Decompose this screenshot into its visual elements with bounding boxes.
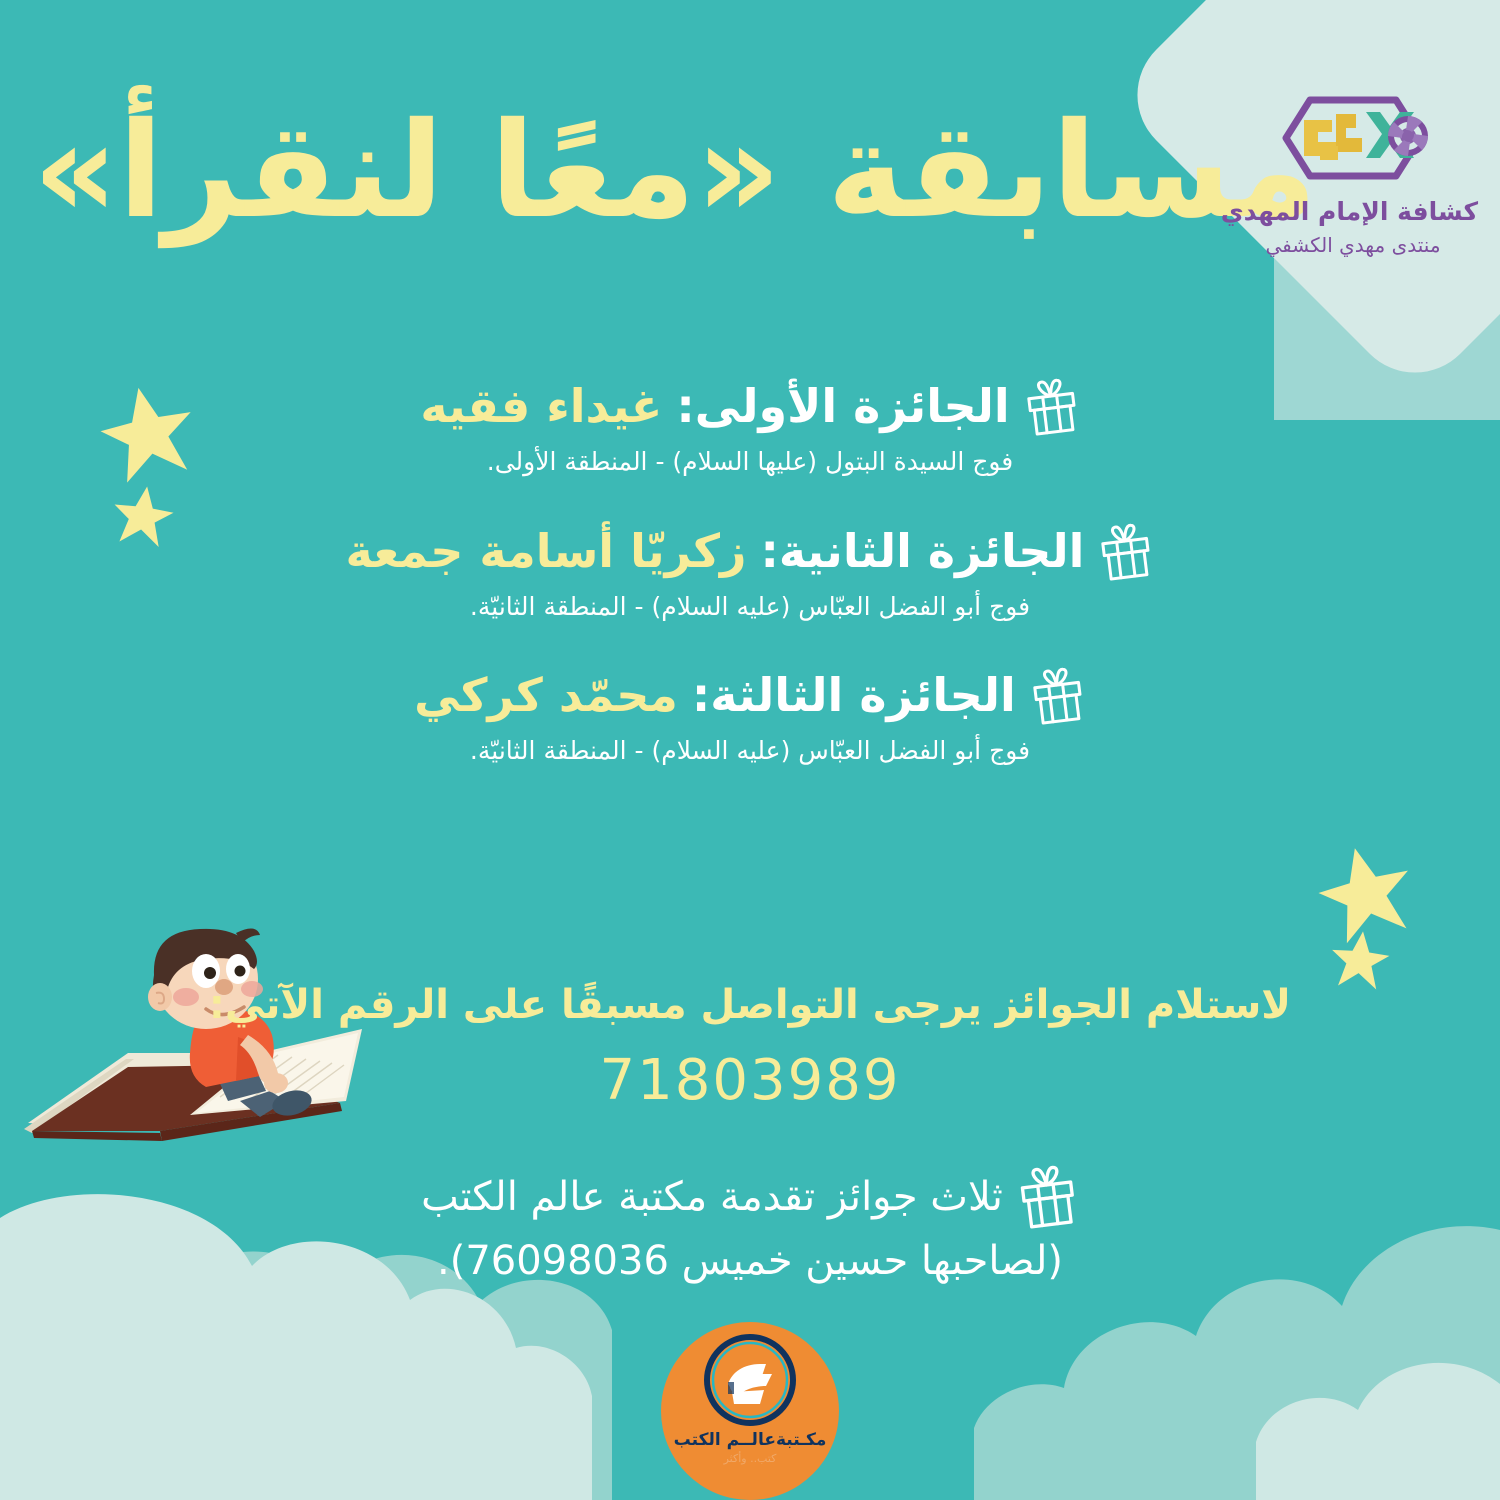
- prize-item-third: الجائزة الثالثة: محمّد كركي فوج أبو الفض…: [0, 667, 1500, 768]
- contact-instruction: لاستلام الجوائز يرجى التواصل مسبقًا على …: [0, 980, 1500, 1030]
- prize-troop: فوج السيدة البتول (عليها السلام) - المنط…: [0, 446, 1500, 479]
- bookstore-tagline: كتب.. وأكثر: [724, 1452, 777, 1465]
- open-book-circle-icon: [704, 1334, 796, 1426]
- scout-logo-subtitle: منتدى مهدي الكشفي: [1228, 234, 1478, 256]
- gift-icon: [1020, 375, 1083, 439]
- prize-winner-name: محمّد كركي: [414, 668, 678, 723]
- contact-block: لاستلام الجوائز يرجى التواصل مسبقًا على …: [0, 980, 1500, 1113]
- prize-item-first: الجائزة الأولى: غيداء فقيه فوج السيدة ال…: [0, 378, 1500, 479]
- gift-icon: [1013, 1161, 1082, 1232]
- prize-item-second: الجائزة الثانية: زكريّا أسامة جمعة فوج أ…: [0, 523, 1500, 624]
- prize-label: الجائزة الأولى:: [676, 379, 1009, 434]
- gift-icon: [1095, 519, 1158, 583]
- scout-logo: كشافة الإمام المهدي منتدى مهدي الكشفي: [1228, 90, 1478, 256]
- prize-troop: فوج أبو الفضل العبّاس (عليه السلام) - ال…: [0, 591, 1500, 624]
- bookstore-name: مكـتبةعالــم الكتب: [674, 1430, 827, 1450]
- gift-icon: [1027, 664, 1090, 728]
- sponsor-line-1: ثلاث جوائز تقدمة مكتبة عالم الكتب: [421, 1171, 1003, 1223]
- scout-hexagon-badge-icon: [1258, 90, 1448, 186]
- contact-phone-number[interactable]: 71803989: [0, 1048, 1500, 1113]
- prize-winner-name: زكريّا أسامة جمعة: [346, 524, 747, 579]
- poster-canvas: كشافة الإمام المهدي منتدى مهدي الكشفي مس…: [0, 0, 1500, 1500]
- prize-label: الجائزة الثانية:: [760, 524, 1084, 579]
- sponsor-note-block: ثلاث جوائز تقدمة مكتبة عالم الكتب (لصاحب…: [0, 1165, 1500, 1287]
- prize-troop: فوج أبو الفضل العبّاس (عليه السلام) - ال…: [0, 735, 1500, 768]
- sponsor-line-2: (لصاحبها حسين خميس 76098036).: [0, 1235, 1500, 1287]
- prize-winner-name: غيداء فقيه: [420, 379, 662, 434]
- prize-list: الجائزة الأولى: غيداء فقيه فوج السيدة ال…: [0, 378, 1500, 812]
- prize-label: الجائزة الثالثة:: [692, 668, 1016, 723]
- bookstore-logo: مكـتبةعالــم الكتب كتب.. وأكثر: [661, 1322, 839, 1500]
- scout-logo-title: كشافة الإمام المهدي: [1228, 198, 1478, 226]
